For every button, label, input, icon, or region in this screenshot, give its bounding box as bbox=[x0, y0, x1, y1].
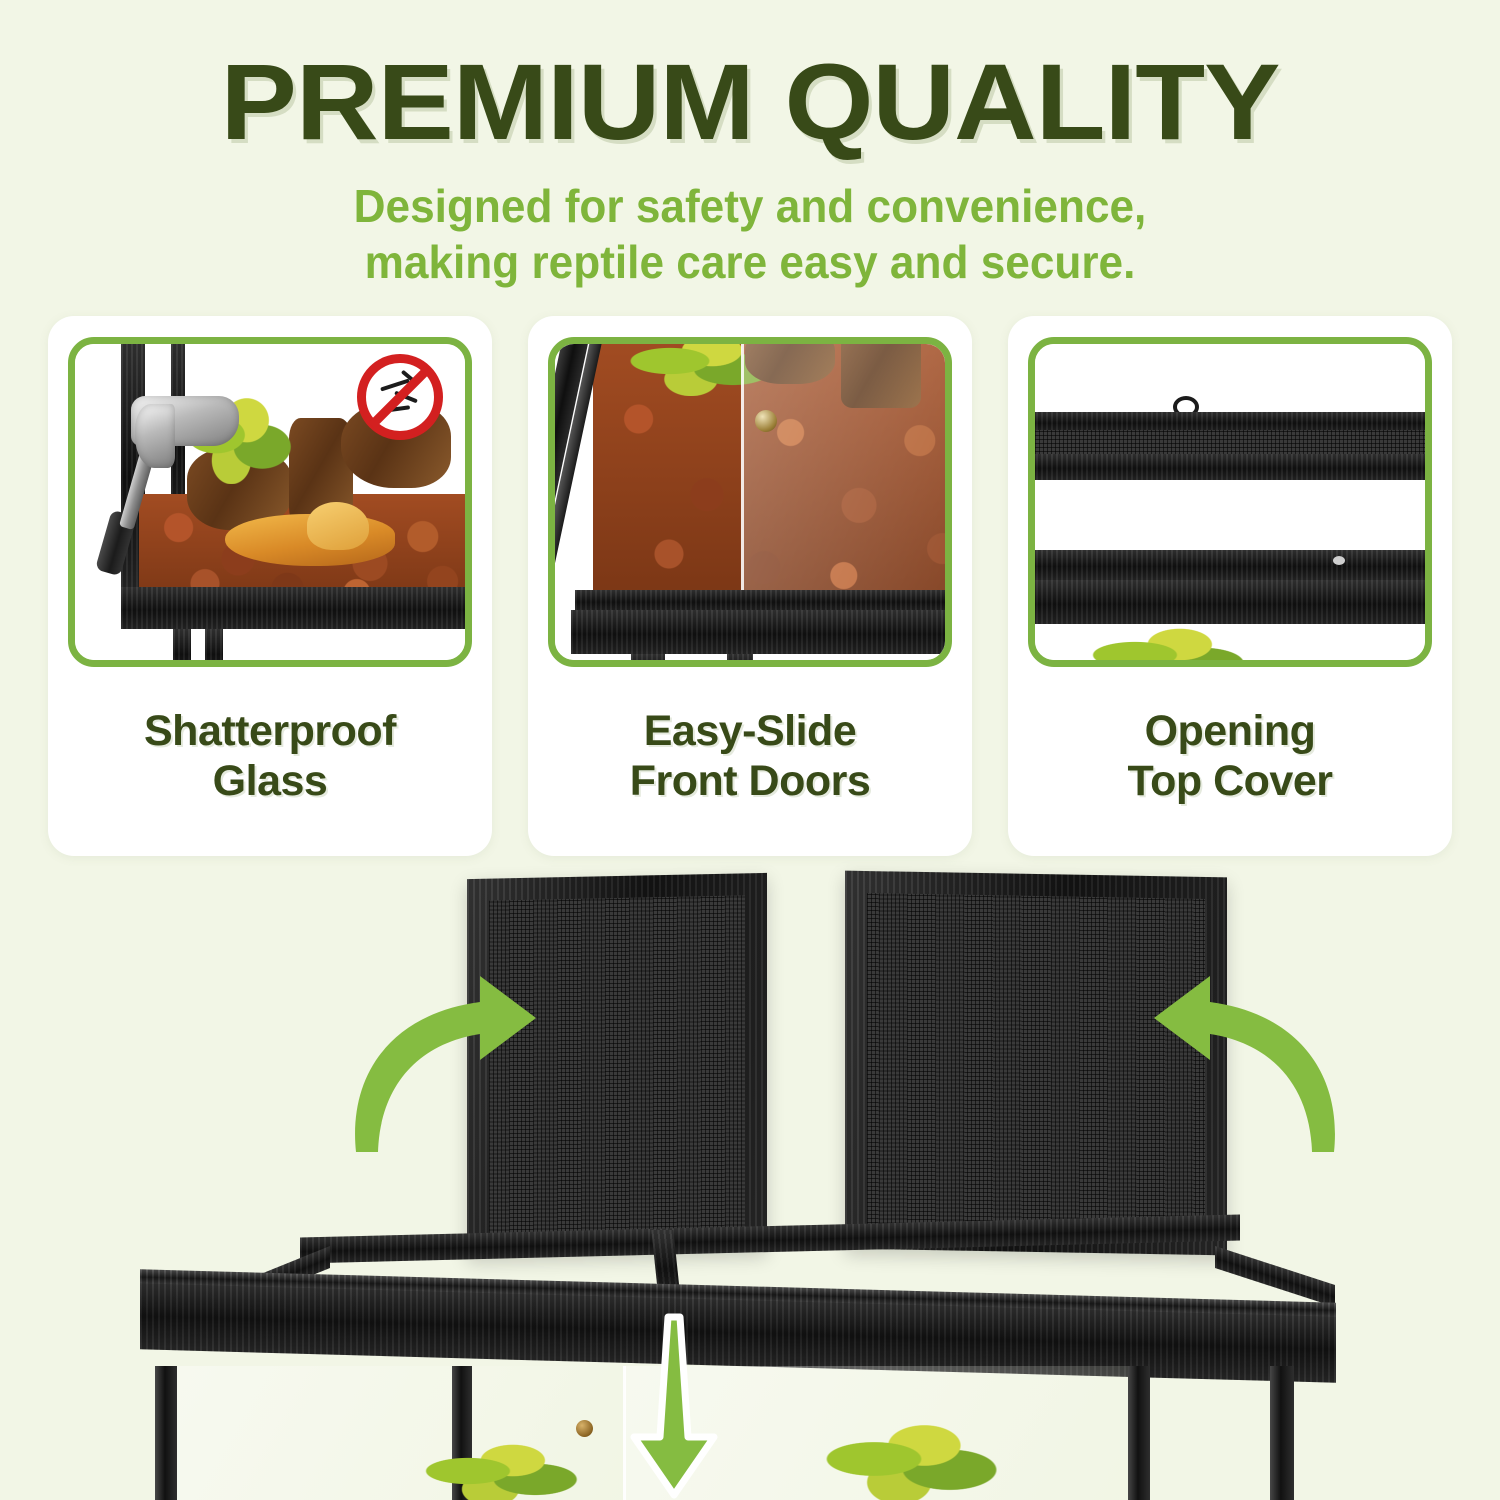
door-knob bbox=[755, 410, 777, 432]
header: PREMIUM QUALITY Designed for safety and … bbox=[0, 0, 1500, 290]
plant bbox=[1087, 620, 1247, 660]
page-title: PREMIUM QUALITY bbox=[0, 48, 1500, 156]
corner-post-right bbox=[1270, 1366, 1294, 1500]
feature-label-line-2: Glass bbox=[144, 757, 396, 807]
corner-post-left bbox=[155, 1366, 177, 1500]
sliding-glass-pane bbox=[741, 344, 945, 598]
frame-rail bbox=[1035, 550, 1425, 580]
plant-left bbox=[420, 1436, 580, 1500]
feature-card-row: Shatterproof Glass bbox=[48, 316, 1452, 856]
feature-card-easy-slide-front-doors: Easy-Slide Front Doors bbox=[528, 316, 972, 856]
feature-label-line-2: Front Doors bbox=[630, 757, 871, 807]
feature-label-line-1: Opening bbox=[1128, 707, 1333, 757]
feature-card-opening-top-cover: Opening Top Cover bbox=[1008, 316, 1452, 856]
arrow-front-door-center bbox=[618, 1311, 728, 1500]
feature-photo-shatterproof-glass bbox=[68, 337, 472, 667]
tank-body bbox=[0, 1366, 1500, 1500]
feature-card-shatterproof-glass: Shatterproof Glass bbox=[48, 316, 492, 856]
subtitle-line-2: making reptile care easy and secure. bbox=[30, 234, 1470, 290]
page-subtitle: Designed for safety and convenience, mak… bbox=[30, 178, 1470, 290]
feature-photo-easy-slide-front-doors bbox=[548, 337, 952, 667]
feature-label-line-1: Easy-Slide bbox=[630, 707, 871, 757]
plant-right bbox=[820, 1414, 1000, 1500]
feature-label-opening-top-cover: Opening Top Cover bbox=[1122, 667, 1339, 856]
arrow-top-right-lid bbox=[1150, 956, 1360, 1156]
arrow-top-left-lid bbox=[330, 956, 540, 1156]
feature-label-easy-slide-front-doors: Easy-Slide Front Doors bbox=[624, 667, 877, 856]
no-crack-icon bbox=[357, 354, 443, 440]
corner-post-inner-right bbox=[1128, 1366, 1150, 1500]
feature-label-line-1: Shatterproof bbox=[144, 707, 396, 757]
subtitle-line-1: Designed for safety and convenience, bbox=[30, 178, 1470, 234]
product-scene bbox=[0, 856, 1500, 1500]
tank-top-rim bbox=[0, 1216, 1500, 1376]
feature-label-line-2: Top Cover bbox=[1128, 757, 1333, 807]
feature-label-shatterproof-glass: Shatterproof Glass bbox=[138, 667, 402, 856]
front-door-knob[interactable] bbox=[576, 1420, 593, 1437]
top-cover-bar bbox=[1035, 412, 1425, 432]
feature-photo-opening-top-cover bbox=[1028, 337, 1432, 667]
